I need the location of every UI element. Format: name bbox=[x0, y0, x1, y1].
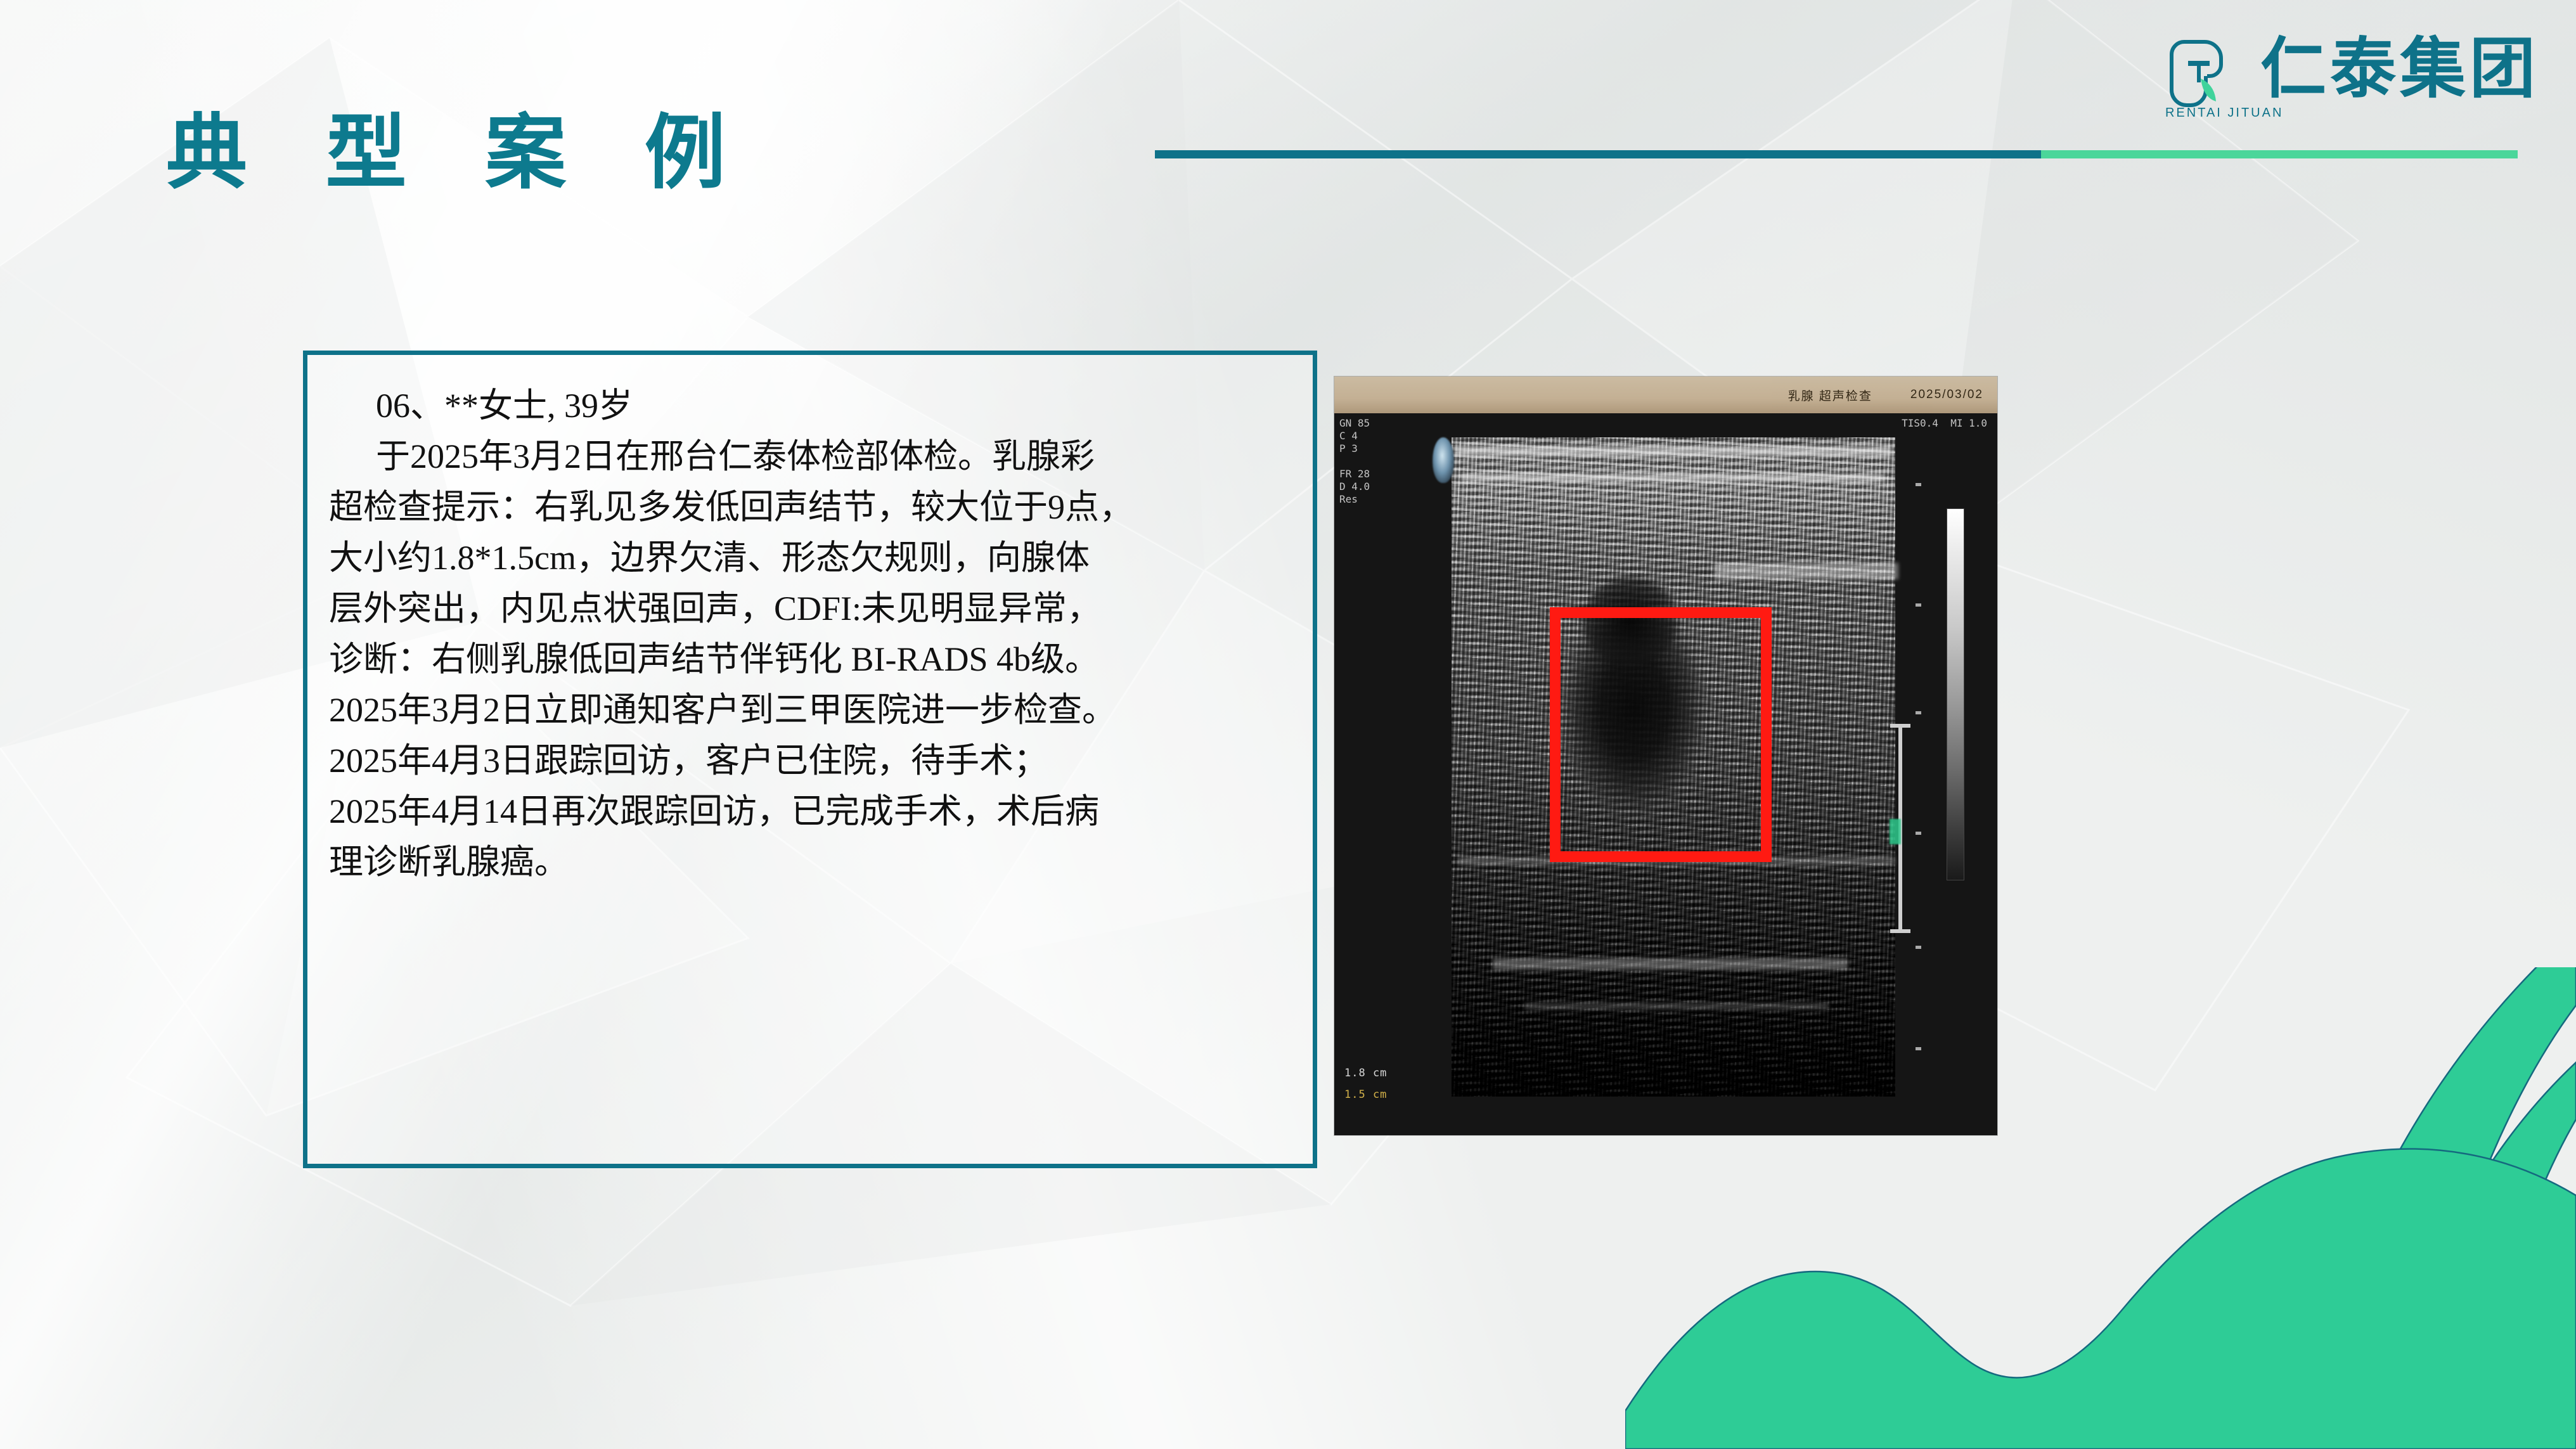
measure-label-2: 1.5 cm bbox=[1344, 1088, 1387, 1101]
depth-tick bbox=[1916, 832, 1921, 835]
probe-marker-icon bbox=[1433, 437, 1454, 483]
grayscale-gradient-bar bbox=[1947, 508, 1964, 880]
case-line: 理诊断乳腺癌。 bbox=[329, 837, 1289, 887]
case-line: 层外突出，内见点状强回声，CDFI:未见明显异常， bbox=[329, 583, 1289, 634]
case-line: 2025年3月2日立即通知客户到三甲医院进一步检查。 bbox=[329, 685, 1289, 735]
tissue-band bbox=[1461, 474, 1884, 481]
case-line: 06、**女士, 39岁 bbox=[329, 380, 1289, 431]
depth-tick bbox=[1916, 711, 1921, 714]
header-rule bbox=[1155, 150, 2518, 158]
case-text-box: 06、**女士, 39岁 于2025年3月2日在邢台仁泰体检部体检。乳腺彩 超检… bbox=[303, 351, 1317, 1168]
header-rule-teal-segment bbox=[1155, 150, 2041, 158]
rentai-monogram-icon: RENTAI JITUAN bbox=[2163, 33, 2244, 117]
roi-red-box bbox=[1550, 607, 1772, 862]
logo-pinyin: RENTAI JITUAN bbox=[2165, 106, 2283, 120]
case-line: 超检查提示：右乳见多发低回声结节，较大位于9点， bbox=[329, 482, 1289, 532]
ultrasound-header-right-text: 2025/03/02 bbox=[1910, 388, 1983, 402]
ultrasound-image: 乳腺 超声检查 2025/03/02 GN 85 C 4 P 3 FR 28 D… bbox=[1334, 377, 1997, 1135]
tissue-band bbox=[1715, 563, 1898, 579]
slide-canvas: 典 型 案 例 RENTAI JITUAN 仁泰集团 06、**女士, 39岁 … bbox=[0, 0, 2576, 1449]
depth-tick bbox=[1916, 946, 1921, 949]
tissue-band bbox=[1493, 958, 1848, 970]
case-line: 大小约1.8*1.5cm，边界欠清、形态欠规则，向腺体 bbox=[329, 532, 1289, 583]
measure-label-1: 1.8 cm bbox=[1344, 1067, 1387, 1079]
color-doppler-marker bbox=[1890, 819, 1901, 844]
ultrasound-header-left-text: 乳腺 超声检查 bbox=[1788, 387, 1872, 404]
ultrasound-left-params: GN 85 C 4 P 3 FR 28 D 4.0 Res bbox=[1339, 417, 1370, 506]
ultrasound-header-bar: 乳腺 超声检查 2025/03/02 bbox=[1334, 377, 1997, 413]
ultrasound-top-right-overlay: TIS0.4 MI 1.0 bbox=[1902, 417, 1987, 430]
case-line: 2025年4月3日跟踪回访，客户已住院，待手术； bbox=[329, 735, 1289, 786]
ultrasound-body: GN 85 C 4 P 3 FR 28 D 4.0 Res TIS0.4 MI … bbox=[1334, 413, 1997, 1135]
tissue-band bbox=[1524, 1003, 1829, 1010]
depth-tick bbox=[1916, 1047, 1921, 1050]
case-line: 2025年4月14日再次跟踪回访，已完成手术，术后病 bbox=[329, 786, 1289, 837]
tissue-band bbox=[1455, 446, 1892, 456]
case-line: 于2025年3月2日在邢台仁泰体检部体检。乳腺彩 bbox=[329, 431, 1289, 482]
depth-tick bbox=[1916, 483, 1921, 486]
logo-wordmark: 仁泰集团 bbox=[2260, 33, 2539, 104]
page-title: 典 型 案 例 bbox=[166, 113, 754, 194]
case-line: 诊断：右侧乳腺低回声结节伴钙化 BI-RADS 4b级。 bbox=[329, 634, 1289, 685]
depth-tick bbox=[1916, 603, 1921, 607]
brand-logo: RENTAI JITUAN 仁泰集团 bbox=[2163, 33, 2539, 117]
header-rule-green-segment bbox=[2041, 150, 2518, 158]
case-text-body: 06、**女士, 39岁 于2025年3月2日在邢台仁泰体检部体检。乳腺彩 超检… bbox=[329, 380, 1289, 887]
